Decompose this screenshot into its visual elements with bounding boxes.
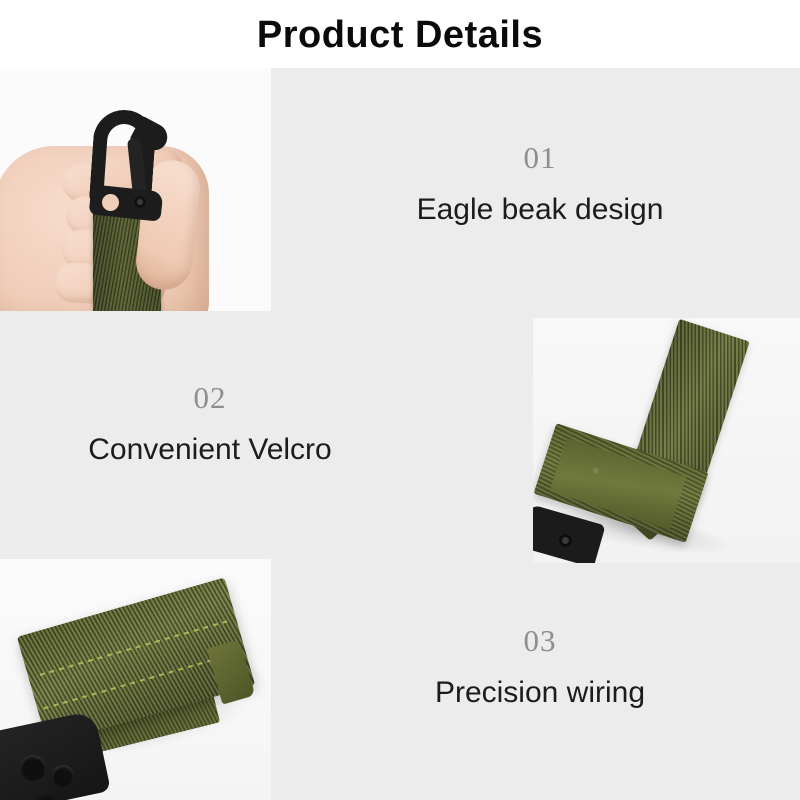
feature-number-01: 01	[340, 142, 740, 173]
feature-number-03: 03	[340, 625, 740, 656]
product-details-page: Product Details 01 Eagle beak design 02 …	[0, 0, 800, 800]
clip-hole	[20, 755, 46, 781]
feature-label-01: Eagle beak design	[340, 193, 740, 226]
feature-caption-02: 02 Convenient Velcro	[10, 382, 410, 466]
clip-hole	[52, 765, 74, 787]
carabiner-hook	[78, 108, 208, 218]
feature-caption-03: 03 Precision wiring	[340, 625, 740, 709]
feature-number-02: 02	[10, 382, 410, 413]
page-title: Product Details	[0, 14, 800, 57]
hook-rivet	[134, 196, 146, 208]
feature-label-02: Convenient Velcro	[10, 433, 410, 466]
feature-photo-wiring	[0, 559, 271, 800]
hook-hole	[102, 194, 119, 211]
feature-label-03: Precision wiring	[340, 676, 740, 709]
feature-photo-eagle-beak	[0, 68, 271, 311]
feature-photo-velcro	[533, 318, 800, 563]
hook-base	[89, 184, 164, 221]
feature-caption-01: 01 Eagle beak design	[340, 142, 740, 226]
